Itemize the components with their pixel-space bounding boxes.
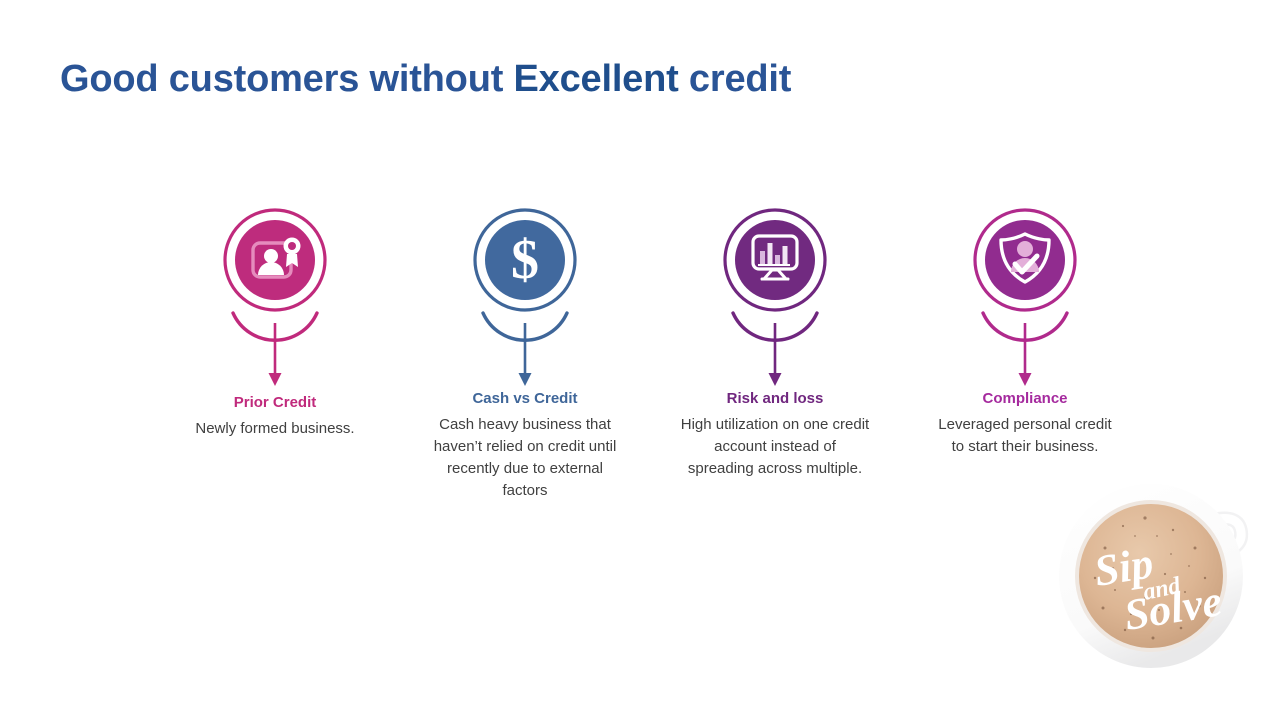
title-text-before: Good customers without — [60, 58, 514, 100]
column-body-text: Cash heavy business that haven’t relied … — [425, 414, 625, 502]
column-body-text: Newly formed business. — [195, 418, 355, 440]
badge-prior-credit — [220, 205, 330, 390]
badge-risk-and-loss — [720, 205, 830, 390]
column-prior-credit[interactable]: Prior Credit Newly formed business. — [150, 205, 400, 440]
column-heading: Prior Credit — [234, 394, 317, 412]
column-body-text: High utilization on one credit account i… — [680, 414, 870, 480]
title-text-after: credit — [679, 58, 792, 100]
svg-text:$: $ — [511, 229, 539, 291]
coffee-cup-icon: Sip and Solve — [1053, 478, 1268, 678]
column-cash-vs-credit[interactable]: $ Cash vs Credit Cash heavy business tha… — [400, 205, 650, 502]
badge-cash-vs-credit: $ — [470, 205, 580, 390]
dollar-sign-icon: $ — [470, 205, 580, 390]
page-title: Good customers without Excellent credit — [60, 55, 791, 103]
column-heading: Cash vs Credit — [472, 390, 577, 408]
badge-compliance — [970, 205, 1080, 390]
sip-and-solve-coffee-cup-logo: Sip and Solve — [1053, 478, 1268, 678]
column-body-text: Leveraged personal credit to start their… — [935, 414, 1115, 458]
column-risk-and-loss[interactable]: Risk and loss High utilization on one cr… — [650, 205, 900, 480]
column-heading: Compliance — [982, 390, 1067, 408]
feature-columns: Prior Credit Newly formed business. $ Ca… — [150, 205, 1150, 502]
person-badge-icon — [220, 205, 330, 390]
shield-person-check-icon — [970, 205, 1080, 390]
title-text-emphasis: Excellent — [514, 58, 679, 100]
slide-canvas: Good customers without Excellent credit — [0, 0, 1280, 720]
monitor-bar-chart-icon — [720, 205, 830, 390]
column-heading: Risk and loss — [727, 390, 824, 408]
column-compliance[interactable]: Compliance Leveraged personal credit to … — [900, 205, 1150, 458]
